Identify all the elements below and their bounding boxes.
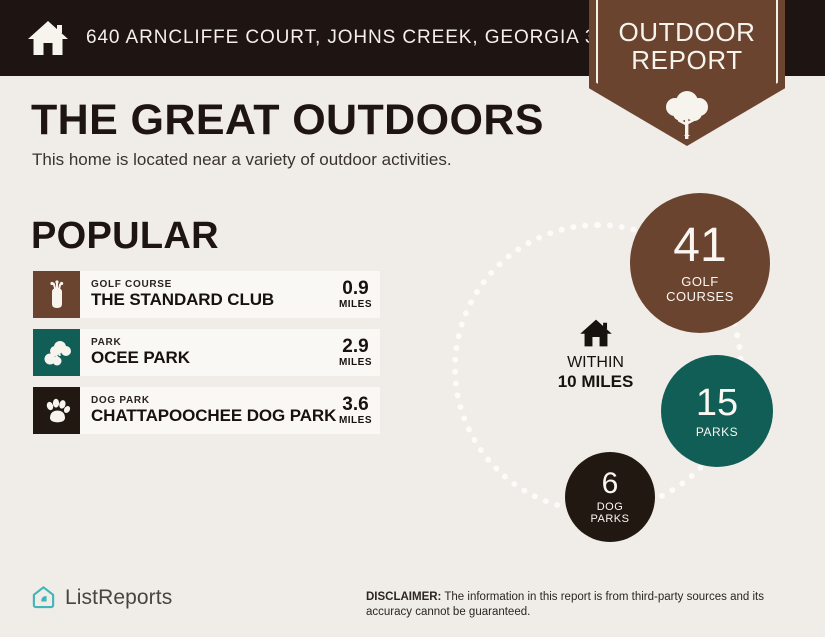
trees-icon [33, 329, 80, 376]
golf-courses-label: GOLF COURSES [666, 275, 734, 303]
golf-bag-icon [33, 271, 80, 318]
stat-circle-dog-parks: 6 DOG PARKS [565, 452, 655, 542]
home-icon [26, 16, 70, 60]
list-item-category: GOLF COURSE [91, 279, 274, 290]
within-line1: WITHIN [528, 354, 663, 372]
list-item-distance: 0.9 MILES [333, 279, 372, 310]
page-subtitle: This home is located near a variety of o… [32, 150, 452, 170]
within-line2: 10 MILES [528, 372, 663, 392]
list-item-name: CHATTAPOOCHEE DOG PARK [91, 406, 333, 426]
list-item[interactable]: DOG PARK CHATTAPOOCHEE DOG PARK 3.6 MILE… [33, 387, 380, 434]
home-icon [528, 318, 663, 348]
list-item-body: GOLF COURSE THE STANDARD CLUB 0.9 MILES [80, 271, 380, 318]
list-item-distance: 2.9 MILES [333, 337, 372, 368]
distance-value: 2.9 [342, 337, 368, 357]
list-item-name: OCEE PARK [91, 348, 190, 368]
badge-title: OUTDOOR REPORT [589, 18, 785, 74]
page-title: THE GREAT OUTDOORS [31, 96, 544, 145]
list-item-body: DOG PARK CHATTAPOOCHEE DOG PARK 3.6 MILE… [80, 387, 380, 434]
listreports-brand[interactable]: ListReports [31, 585, 172, 610]
within-radius-label: WITHIN 10 MILES [528, 318, 663, 392]
listreports-house-logo [31, 585, 56, 610]
list-item[interactable]: PARK OCEE PARK 2.9 MILES [33, 329, 380, 376]
brand-name: ListReports [65, 586, 172, 610]
golf-courses-count: 41 [673, 222, 726, 270]
list-item-name: THE STANDARD CLUB [91, 290, 274, 310]
distance-unit: MILES [339, 299, 372, 310]
list-item-text: DOG PARK CHATTAPOOCHEE DOG PARK [91, 395, 333, 426]
stat-circle-golf-courses: 41 GOLF COURSES [630, 193, 770, 333]
tree-icon [660, 88, 714, 140]
list-item-category: DOG PARK [91, 395, 333, 406]
popular-places-list: GOLF COURSE THE STANDARD CLUB 0.9 MILES [33, 271, 380, 445]
dog-parks-label: DOG PARKS [591, 502, 630, 526]
list-item-distance: 3.6 MILES [333, 395, 372, 426]
list-item[interactable]: GOLF COURSE THE STANDARD CLUB 0.9 MILES [33, 271, 380, 318]
parks-label: PARKS [696, 426, 738, 439]
property-address: 640 ARNCLIFFE COURT, JOHNS CREEK, GEORGI… [86, 27, 642, 49]
badge-title-line1: OUTDOOR [589, 18, 785, 46]
paw-print-icon [33, 387, 80, 434]
distance-unit: MILES [339, 357, 372, 368]
distance-value: 3.6 [342, 395, 368, 415]
popular-section-title: POPULAR [31, 215, 219, 258]
disclaimer: DISCLAIMER: The information in this repo… [366, 590, 798, 620]
distance-unit: MILES [339, 415, 372, 426]
infographic-page: 640 ARNCLIFFE COURT, JOHNS CREEK, GEORGI… [0, 0, 825, 637]
distance-value: 0.9 [342, 279, 368, 299]
list-item-category: PARK [91, 337, 190, 348]
list-item-body: PARK OCEE PARK 2.9 MILES [80, 329, 380, 376]
dog-parks-count: 6 [602, 469, 619, 499]
disclaimer-label: DISCLAIMER: [366, 591, 441, 603]
stat-circle-parks: 15 PARKS [661, 355, 773, 467]
list-item-text: PARK OCEE PARK [91, 337, 190, 368]
list-item-text: GOLF COURSE THE STANDARD CLUB [91, 279, 274, 310]
badge-title-line2: REPORT [589, 46, 785, 74]
parks-count: 15 [696, 384, 738, 422]
